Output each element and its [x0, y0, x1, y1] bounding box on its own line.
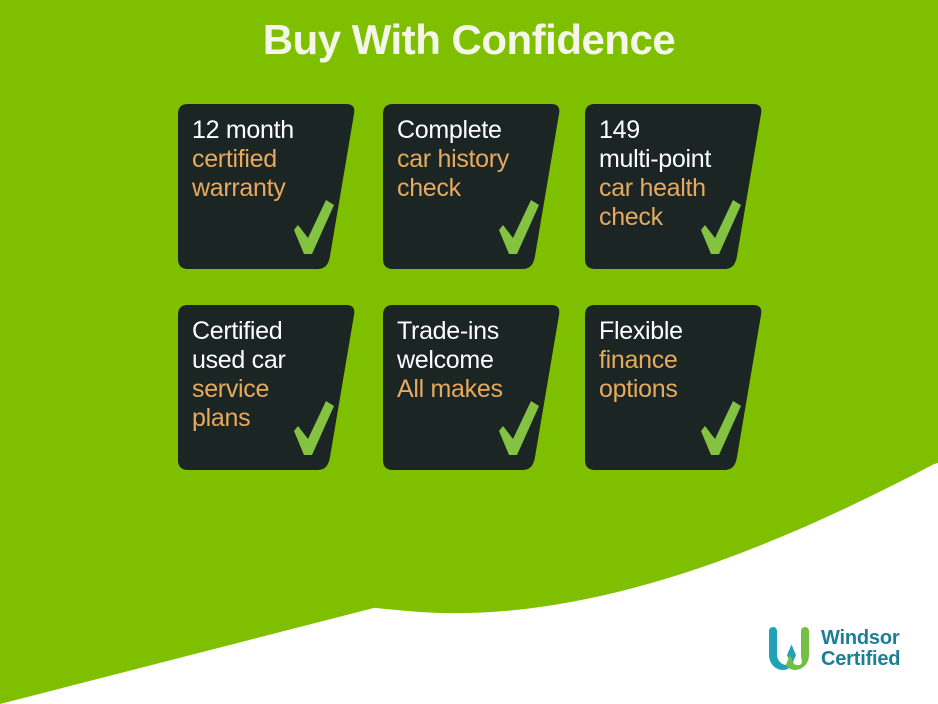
card-text: Complete car history check	[397, 116, 547, 203]
page-title: Buy With Confidence	[0, 16, 938, 64]
card-line: used car	[192, 346, 342, 375]
check-icon	[697, 200, 743, 254]
feature-card-certified-warranty[interactable]: 12 month certified warranty	[178, 104, 356, 269]
windsor-certified-logo[interactable]: Windsor Certified	[766, 627, 900, 671]
card-line: car history	[397, 145, 547, 174]
feature-card-car-history-check[interactable]: Complete car history check	[383, 104, 561, 269]
card-line: All makes	[397, 375, 547, 404]
check-icon	[495, 401, 541, 455]
card-text: Trade-ins welcome All makes	[397, 317, 547, 404]
logo-line-1: Windsor	[821, 628, 900, 649]
card-line: certified	[192, 145, 342, 174]
windsor-w-icon	[766, 627, 812, 671]
feature-card-grid: 12 month certified warranty Complete car…	[0, 0, 938, 704]
card-line: Flexible	[599, 317, 749, 346]
card-line: Complete	[397, 116, 547, 145]
card-line: Trade-ins	[397, 317, 547, 346]
card-line: multi-point	[599, 145, 749, 174]
card-line: finance	[599, 346, 749, 375]
promo-banner: Buy With Confidence 12 month certified w…	[0, 0, 938, 704]
check-icon	[495, 200, 541, 254]
feature-card-service-plans[interactable]: Certified used car service plans	[178, 305, 356, 470]
card-line: Certified	[192, 317, 342, 346]
card-line: 12 month	[192, 116, 342, 145]
logo-line-2: Certified	[821, 649, 900, 670]
card-line: check	[397, 174, 547, 203]
check-icon	[290, 200, 336, 254]
card-line: car health	[599, 174, 749, 203]
logo-wordmark: Windsor Certified	[821, 628, 900, 670]
feature-card-multi-point-health-check[interactable]: 149 multi-point car health check	[585, 104, 763, 269]
card-line: warranty	[192, 174, 342, 203]
card-line: service	[192, 375, 342, 404]
feature-card-trade-ins[interactable]: Trade-ins welcome All makes	[383, 305, 561, 470]
card-text: Flexible finance options	[599, 317, 749, 404]
check-icon	[290, 401, 336, 455]
card-line: 149	[599, 116, 749, 145]
card-line: welcome	[397, 346, 547, 375]
feature-card-flexible-finance[interactable]: Flexible finance options	[585, 305, 763, 470]
card-text: 12 month certified warranty	[192, 116, 342, 203]
card-line: options	[599, 375, 749, 404]
check-icon	[697, 401, 743, 455]
